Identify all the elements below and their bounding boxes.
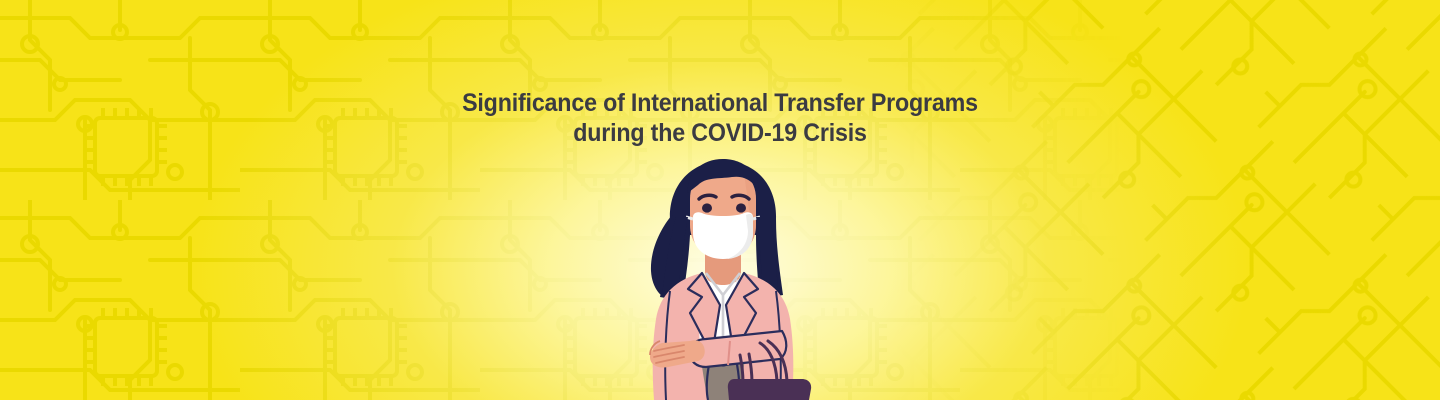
woman-with-face-mask-illustration: [610, 155, 840, 400]
title-line-2: during the COVID-19 Crisis: [50, 118, 1389, 148]
handbag-body: [728, 379, 811, 400]
eye-left: [702, 203, 712, 212]
title-line-1: Significance of International Transfer P…: [50, 88, 1389, 118]
eye-right: [736, 203, 746, 212]
banner: Significance of International Transfer P…: [0, 0, 1440, 400]
banner-title: Significance of International Transfer P…: [0, 88, 1440, 148]
